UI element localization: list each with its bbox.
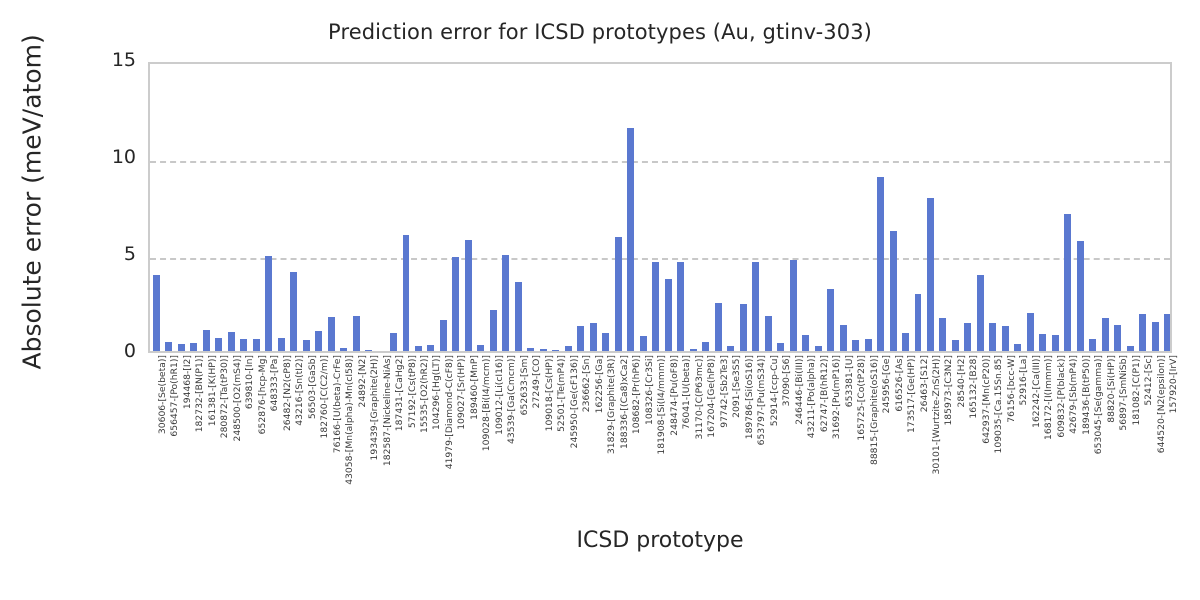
bar <box>1052 335 1059 351</box>
x-tick-label: 43216-[Sn(tI2)] <box>295 355 305 426</box>
x-tick-label: 653045-[Se(gamma)] <box>1094 355 1104 454</box>
bar <box>590 323 597 351</box>
bar <box>939 318 946 351</box>
bar <box>1002 326 1009 351</box>
bar <box>727 346 734 351</box>
x-tick-label: 185973-[C3N2] <box>944 355 954 426</box>
x-tick-label: 181908-[Si(I4/mmm)] <box>657 355 667 455</box>
bar <box>602 333 609 351</box>
bar <box>215 338 222 351</box>
x-tick-label: 644520-[N2(epsilon)] <box>1157 355 1167 453</box>
bar <box>977 275 984 351</box>
bar <box>1102 318 1109 351</box>
bar <box>1114 325 1121 351</box>
gridline-y-10 <box>150 161 1170 163</box>
x-tick-label: 108682-[Pr(hP6)] <box>632 355 642 434</box>
bar <box>353 316 360 351</box>
bar <box>1064 214 1071 351</box>
x-tick-label: 28540-[H2] <box>957 355 967 407</box>
bar <box>615 237 622 351</box>
bar <box>365 350 372 351</box>
x-tick-label: 182587-[Nickeline-NiAs] <box>383 355 393 466</box>
x-tick-label: 26463-[S12] <box>920 355 930 412</box>
bar <box>989 323 996 351</box>
x-tick-label: 31829-[Graphite(3R)] <box>607 355 617 454</box>
bar <box>852 340 859 351</box>
x-tick-label: 52501-[Te(mP4)] <box>557 355 567 432</box>
x-tick-label: 280872-[Ta(tP30)] <box>220 355 230 438</box>
bar <box>565 346 572 351</box>
x-tick-label: 62747-[B(hR12)] <box>820 355 830 432</box>
bar <box>153 275 160 351</box>
bar <box>265 256 272 351</box>
bar <box>403 235 410 351</box>
bar <box>1014 344 1021 351</box>
x-tick-label: 652633-[Sm] <box>520 355 530 415</box>
bar <box>690 349 697 351</box>
bar <box>552 350 559 351</box>
x-tick-label: 642937-[Mn(cP20)] <box>982 355 992 444</box>
x-tick-label: 109012-[Li(cI16)] <box>495 355 505 435</box>
chart-figure: Prediction error for ICSD prototypes (Au… <box>0 0 1200 600</box>
bar <box>465 240 472 351</box>
x-tick-label: 653381-[U] <box>845 355 855 407</box>
x-tick-label: 109018-[Cs(HP)] <box>545 355 555 431</box>
x-tick-label: 76166-[U(beta)-CrFe] <box>333 355 343 453</box>
x-tick-label: 2091-[Se3S5] <box>732 355 742 418</box>
x-tick-label: 52916-[La] <box>1019 355 1029 405</box>
bar <box>665 279 672 351</box>
bar <box>740 304 747 351</box>
x-tick-label: 187431-[CaHg2] <box>395 355 405 431</box>
x-axis-label: ICSD prototype <box>148 528 1172 553</box>
x-tick-label: 639810-[In] <box>245 355 255 409</box>
x-tick-label: 43211-[Po(alpha)] <box>807 355 817 438</box>
x-tick-label: 31170-[C(P63mc)] <box>695 355 705 440</box>
x-tick-label: 162242-[Ca(III)] <box>1032 355 1042 428</box>
x-tick-label: 109028-[Bi(I4/mcm)] <box>482 355 492 451</box>
bar <box>1152 322 1159 351</box>
bar <box>915 294 922 351</box>
x-tick-label: 104296-[Hg(LT)] <box>432 355 442 430</box>
gridline-y-5 <box>150 258 1170 260</box>
x-tick-label: 182732-[BN(P1)] <box>195 355 205 432</box>
bar <box>952 340 959 351</box>
x-tick-label: 616526-[As] <box>895 355 905 412</box>
y-tick-label: 5 <box>16 243 136 265</box>
bar <box>502 255 509 351</box>
y-tick-label: 15 <box>16 49 136 71</box>
bar <box>815 346 822 351</box>
bar <box>178 344 185 351</box>
y-axis-ticks: 051015 <box>0 0 148 600</box>
x-tick-label: 248500-[O2(mS4)] <box>233 355 243 441</box>
bar <box>540 349 547 351</box>
x-tick-label: 193439-[Graphite(2H)] <box>370 355 380 460</box>
y-tick-label: 10 <box>16 146 136 168</box>
bar <box>1089 339 1096 351</box>
bar <box>890 231 897 351</box>
x-tick-label: 76041-[U(beta)] <box>682 355 692 429</box>
bar <box>827 289 834 351</box>
plot-area <box>148 62 1172 353</box>
bar <box>640 336 647 351</box>
x-tick-label: 88820-[Si(HP)] <box>1107 355 1117 423</box>
bar <box>1027 313 1034 351</box>
bar <box>490 310 497 351</box>
bar <box>1127 346 1134 351</box>
bar <box>777 343 784 351</box>
x-tick-label: 26482-[N2(cP8)] <box>283 355 293 431</box>
bar <box>253 339 260 351</box>
x-tick-label: 15535-[O2(hR2)] <box>420 355 430 433</box>
chart-title: Prediction error for ICSD prototypes (Au… <box>0 20 1200 44</box>
x-tick-label: 648333-[Pa] <box>270 355 280 411</box>
bar <box>165 342 172 351</box>
x-tick-label: 37090-[S6] <box>782 355 792 406</box>
bar <box>840 325 847 351</box>
x-tick-label: 52914-[ccp-Cu] <box>770 355 780 426</box>
x-tick-label: 248474-[Pu(oF8)] <box>670 355 680 436</box>
x-tick-label: 43539-[Ga(Cmcm)] <box>507 355 517 444</box>
bar <box>427 345 434 351</box>
x-tick-label: 97742-[Sb2Te3] <box>720 355 730 428</box>
plot-inner <box>150 64 1170 351</box>
x-tick-label: 57192-[Cs(tP8)] <box>408 355 418 428</box>
x-tick-label: 167204-[Ge(hP8)] <box>707 355 717 438</box>
bar <box>340 348 347 351</box>
x-tick-label: 182760-[C(C2/m)] <box>320 355 330 438</box>
bar <box>415 346 422 351</box>
x-tick-label: 246446-[Bi(III)] <box>795 355 805 425</box>
bar <box>1039 334 1046 351</box>
x-tick-label: 42679-[Sb(mP4)] <box>1069 355 1079 434</box>
x-tick-label: 236662-[Sn] <box>582 355 592 412</box>
bar <box>715 303 722 351</box>
bar <box>328 317 335 351</box>
bar <box>515 282 522 351</box>
x-tick-label: 168172-[I(Immm)] <box>1044 355 1054 440</box>
bar <box>702 342 709 351</box>
bar <box>1164 314 1170 351</box>
bar <box>765 316 772 351</box>
x-tick-label: 109027-[Sr(HP)] <box>457 355 467 430</box>
x-tick-label: 165725-[Co(tP28)] <box>857 355 867 441</box>
bar <box>190 343 197 351</box>
bar <box>752 262 759 351</box>
x-tick-label: 30606-[Se(beta)] <box>158 355 168 434</box>
x-tick-label: 652876-[hcp-Mg] <box>258 355 268 434</box>
bar <box>290 272 297 351</box>
bar <box>203 330 210 351</box>
x-tick-label: 56897-[SmNiSb] <box>1119 355 1129 431</box>
x-tick-label: 43058-[Mn(alpha)-Mn(cI58)] <box>345 355 355 485</box>
bar <box>877 177 884 351</box>
x-tick-label: 245956-[Ge] <box>882 355 892 413</box>
bar <box>228 332 235 351</box>
x-tick-label: 173517-[Ge(HP)] <box>907 355 917 433</box>
x-tick-label: 108326-[Cr3Si] <box>645 355 655 425</box>
x-tick-label: 194468-[I2] <box>183 355 193 409</box>
x-tick-label: 161381-[K(HP)] <box>208 355 218 426</box>
x-tick-label: 24892-[N2] <box>358 355 368 407</box>
bar <box>627 128 634 351</box>
x-tick-label: 109035-[Ca.15Sn.85] <box>994 355 1004 453</box>
x-tick-label: 76156-[bcc-W] <box>1007 355 1017 423</box>
x-tick-label: 653797-[Pu(mS34)] <box>757 355 767 445</box>
x-tick-label: 52412-[Sc] <box>1144 355 1154 406</box>
bar <box>527 348 534 351</box>
x-tick-label: 31692-[Pu(mP16)] <box>832 355 842 439</box>
bar <box>677 262 684 351</box>
bar <box>865 339 872 351</box>
bar <box>902 333 909 351</box>
bar <box>927 198 934 351</box>
bar <box>278 338 285 351</box>
bar <box>964 323 971 351</box>
x-tick-label: 27249-[CO] <box>532 355 542 408</box>
x-tick-label: 189786-[Si(oS16)] <box>745 355 755 439</box>
bar <box>477 345 484 351</box>
x-tick-label: 245950-[Ge(cF136)] <box>570 355 580 448</box>
x-tick-label: 56503-[GaSb] <box>308 355 318 419</box>
x-tick-label: 189436-[B(tP50)] <box>1082 355 1092 435</box>
bar <box>303 340 310 351</box>
x-tick-label: 157920-[IrV] <box>1169 355 1179 413</box>
bar <box>1139 314 1146 351</box>
x-tick-label: 41979-[Diamond-C(cF8)] <box>445 355 455 469</box>
bar <box>577 326 584 351</box>
bar <box>452 257 459 351</box>
x-tick-label: 609832-[P(black)] <box>1057 355 1067 438</box>
x-tick-label: 189460-[MnP] <box>470 355 480 420</box>
x-tick-label: 30101-[Wurtzite-ZnS(2H)] <box>932 355 942 475</box>
bar <box>652 262 659 351</box>
bar <box>790 260 797 351</box>
bar <box>315 331 322 351</box>
x-axis-ticks: 30606-[Se(beta)]656457-[Po(hR1)]194468-[… <box>148 355 1172 525</box>
x-tick-label: 656457-[Po(hR1)] <box>170 355 180 437</box>
x-tick-label: 88815-[Graphite(oS16)] <box>870 355 880 465</box>
x-tick-label: 165132-[B28] <box>969 355 979 419</box>
bar <box>440 320 447 351</box>
x-tick-label: 181082-[C(P1)] <box>1132 355 1142 426</box>
x-tick-label: 188336-[(Ca8)xCa2] <box>620 355 630 449</box>
bar <box>390 333 397 351</box>
y-tick-label: 0 <box>16 340 136 362</box>
bar <box>240 339 247 351</box>
bar <box>802 335 809 351</box>
bar <box>1077 241 1084 351</box>
x-tick-label: 162256-[Ga] <box>595 355 605 413</box>
